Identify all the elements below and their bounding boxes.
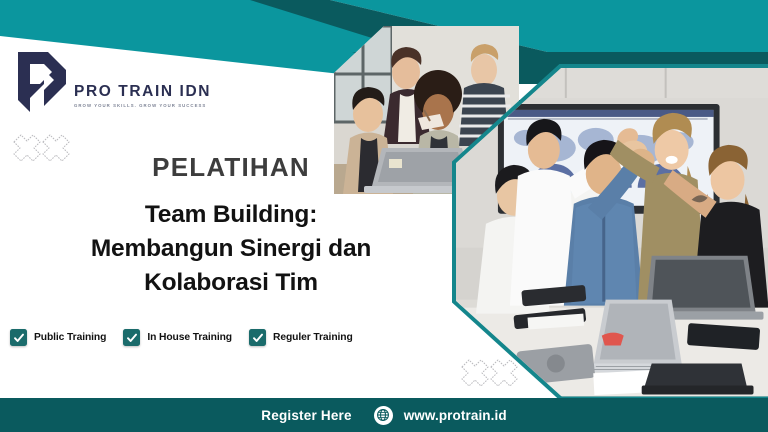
training-poster: PRO TRAIN IDN GROW YOUR SKILLS. GROW YOU… — [0, 0, 768, 432]
register-here-label[interactable]: Register Here — [261, 408, 351, 423]
globe-icon — [374, 406, 393, 425]
check-icon — [123, 329, 140, 346]
x-cross-pattern-icon — [460, 358, 522, 390]
badge-label: Public Training — [34, 332, 106, 343]
brand-logo[interactable]: PRO TRAIN IDN GROW YOUR SKILLS. GROW YOU… — [14, 50, 211, 112]
pro-train-arrow-logo-icon — [14, 50, 68, 112]
brand-tagline: GROW YOUR SKILLS. GROW YOUR SUCCESS — [74, 104, 211, 108]
check-icon — [10, 329, 27, 346]
badge-public-training[interactable]: Public Training — [10, 329, 106, 346]
footer-bar: Register Here www.protrain.id — [0, 398, 768, 432]
badge-reguler-training[interactable]: Reguler Training — [249, 329, 353, 346]
badge-label: In House Training — [147, 332, 232, 343]
headline-line-2: Membangun Sinergi dan — [0, 232, 462, 266]
badge-in-house-training[interactable]: In House Training — [123, 329, 232, 346]
check-icon — [249, 329, 266, 346]
website-url[interactable]: www.protrain.id — [404, 408, 507, 423]
training-type-badges: Public Training In House Training Regule… — [10, 329, 353, 346]
headline-line-1: Team Building: — [0, 198, 462, 232]
page-kicker: PELATIHAN — [0, 154, 462, 180]
brand-name: PRO TRAIN IDN — [74, 84, 211, 100]
headline-line-3: Kolaborasi Tim — [0, 266, 462, 300]
x-pattern-right — [460, 358, 522, 390]
website-group[interactable]: www.protrain.id — [374, 406, 507, 425]
page-title: Team Building: Membangun Sinergi dan Kol… — [0, 198, 462, 299]
badge-label: Reguler Training — [273, 332, 353, 343]
